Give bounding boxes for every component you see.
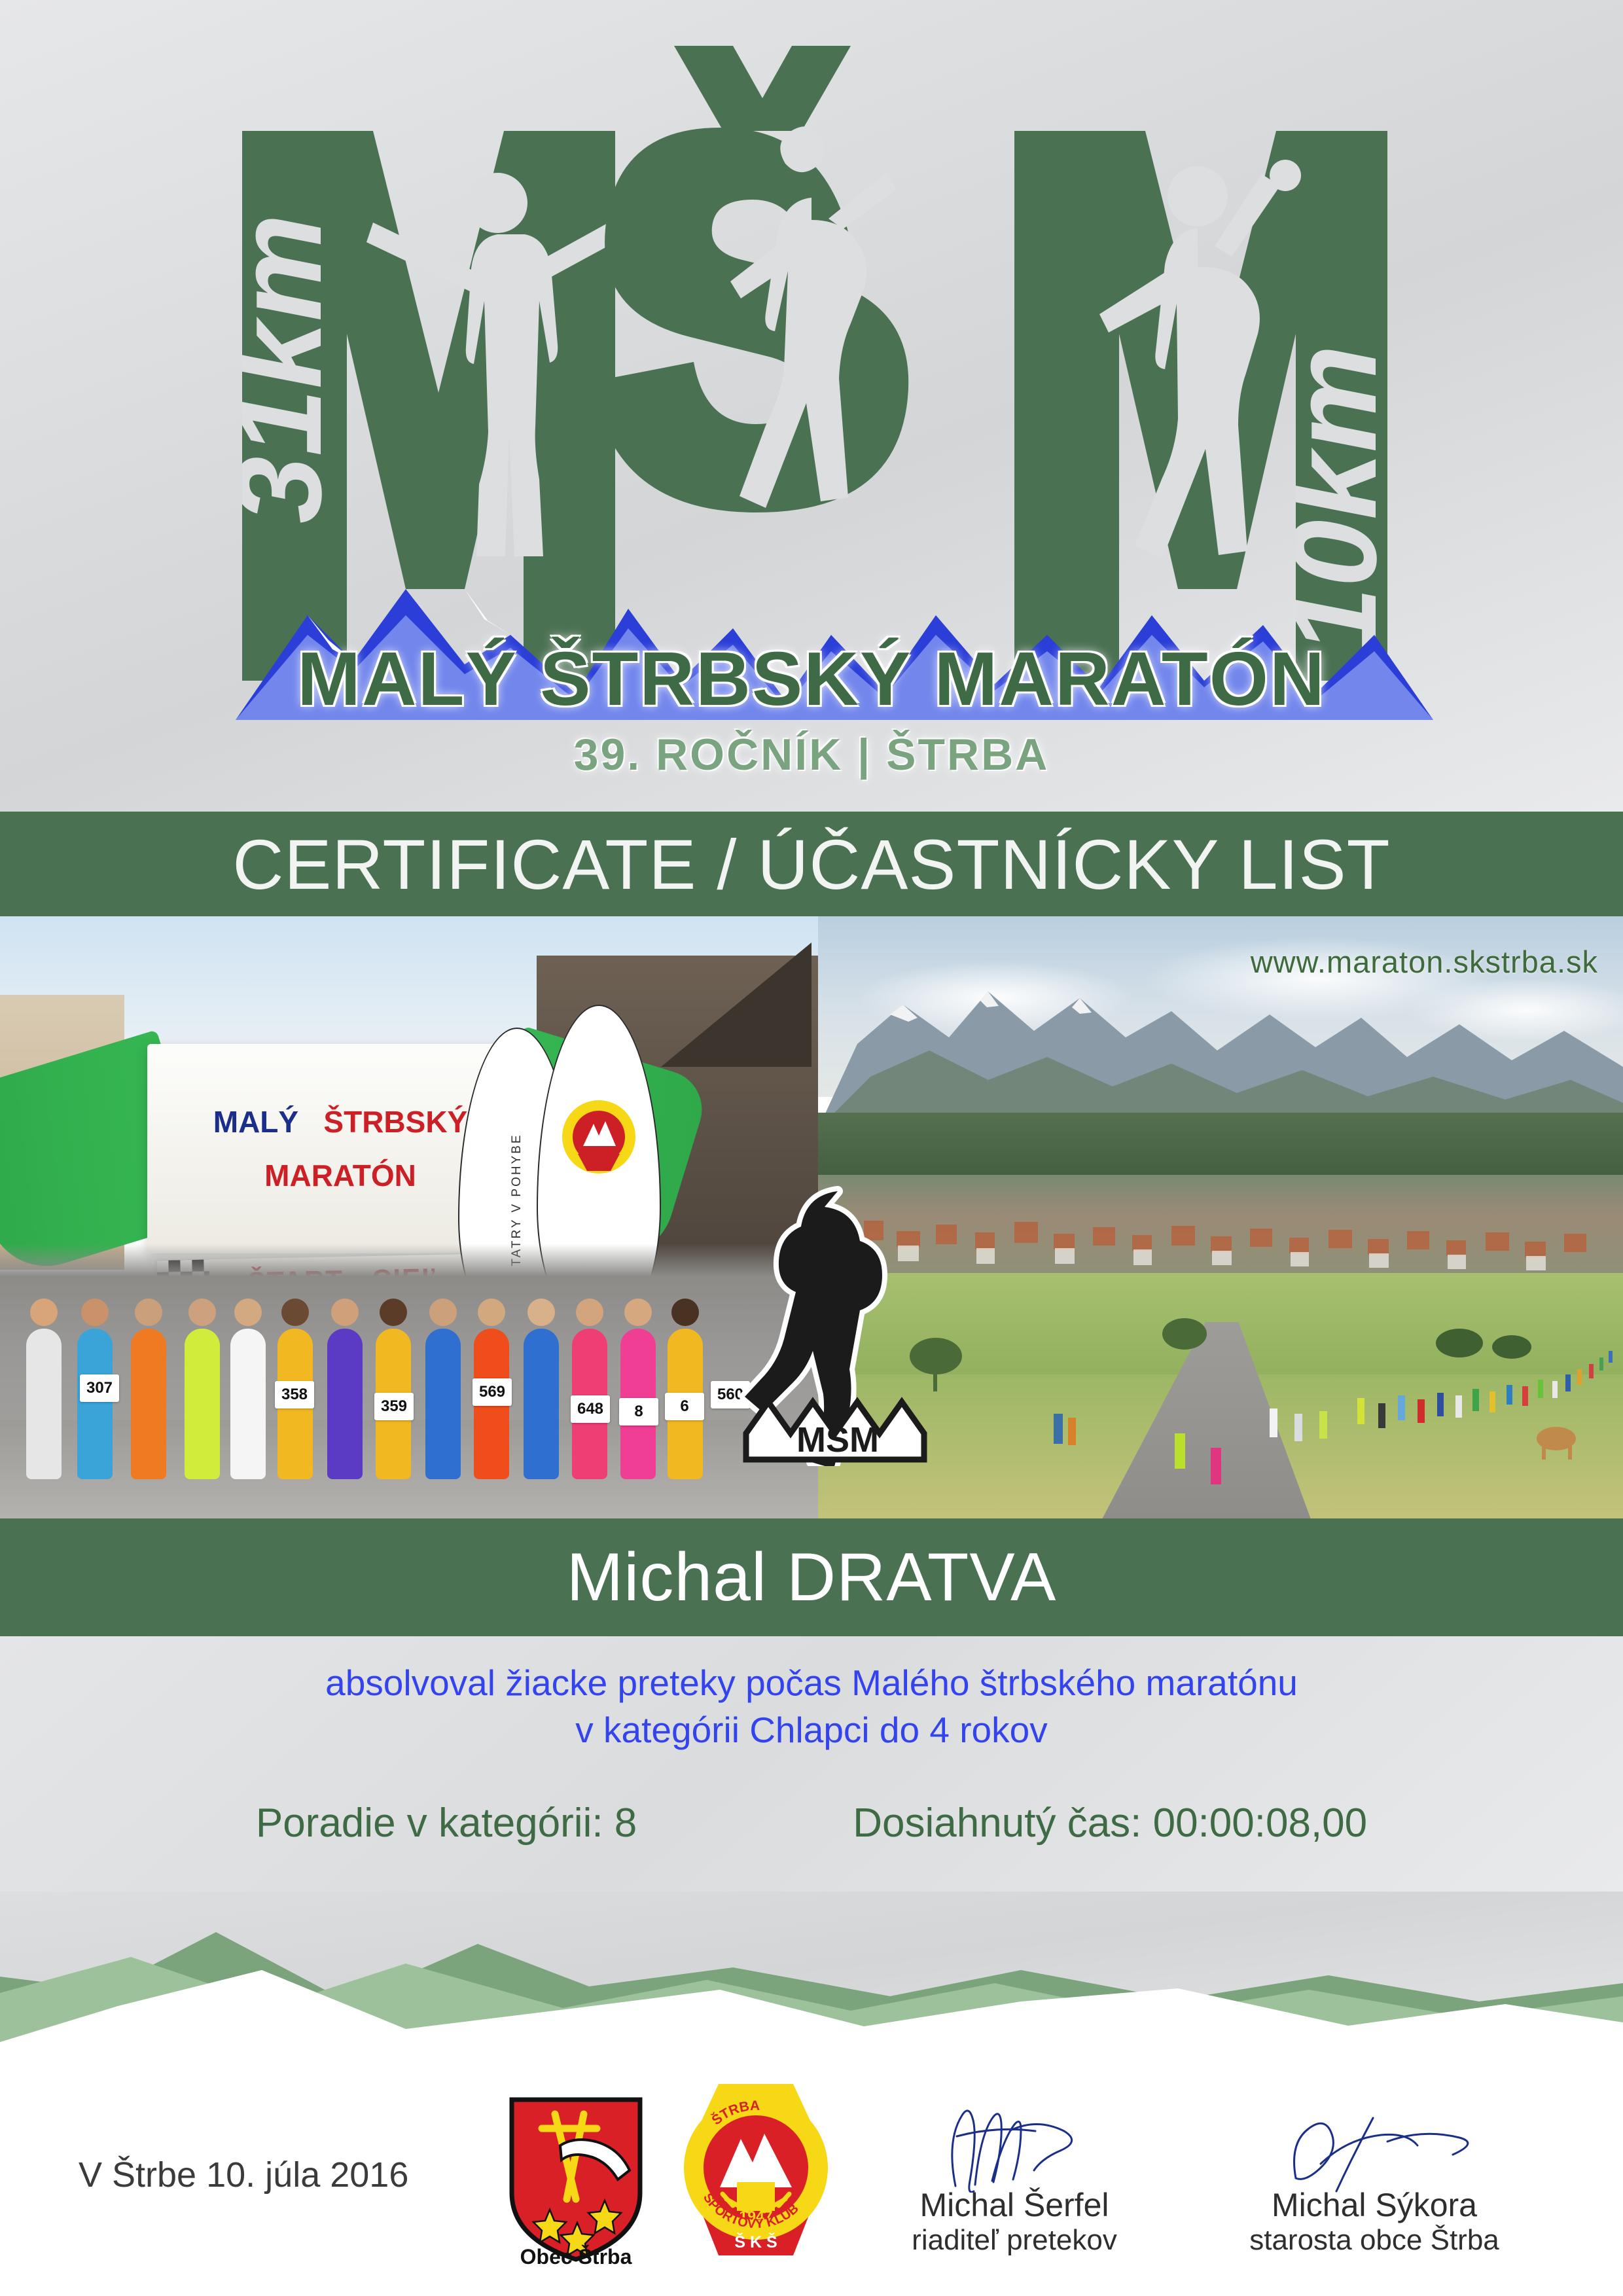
logo-title: MALÝ ŠTRBSKÝ MARATÓN — [157, 635, 1466, 723]
certificate-title: CERTIFICATE / ÚČASTNÍCKY LIST — [232, 823, 1390, 905]
runner — [425, 1329, 461, 1479]
runner — [26, 1329, 62, 1479]
category-rank: Poradie v kategórii: 8 — [256, 1800, 637, 1846]
certificate-footer: V Štrbe 10. júla 2016 Obec Štrba — [0, 2081, 1623, 2296]
logo-subtitle: 39. ROČNÍK | ŠTRBA — [157, 729, 1466, 780]
bib-number: 359 — [374, 1393, 414, 1420]
runner — [185, 1329, 220, 1479]
website-url: www.maraton.skstrba.sk — [1251, 944, 1598, 980]
handwritten-signature-1 — [877, 2108, 1152, 2193]
sks-strba-club-icon: 1947 ŠTRBA ŠPORTOVÝ KLUB Š K Š — [681, 2084, 831, 2259]
runner — [131, 1329, 166, 1479]
bib-number: 8 — [619, 1398, 658, 1426]
msm-runner-emblem: MŠM — [740, 1172, 936, 1466]
description-line-2: v kategórii Chlapci do 4 rokov — [0, 1707, 1623, 1754]
participant-name-band: Michal DRATVA — [0, 1518, 1623, 1636]
bib-number: 6 — [665, 1393, 704, 1420]
signature-2-name: Michal Sýkora — [1204, 2186, 1544, 2224]
signature-block-mayor: Michal Sýkora starosta obce Štrba — [1204, 2108, 1544, 2257]
signature-1-role: riaditeľ pretekov — [844, 2224, 1185, 2257]
msm-emblem-text: MŠM — [796, 1420, 879, 1460]
signature-2-role: starosta obce Štrba — [1204, 2224, 1544, 2257]
photo-race-start: MALÝ ŠTRBSKÝ MARATÓN ŠTART - CIEĽ TATRY … — [0, 916, 818, 1518]
arch-word-strbsky: ŠTRBSKÝ — [323, 1105, 467, 1139]
runner — [77, 1329, 113, 1479]
handwritten-signature-2 — [1237, 2108, 1512, 2193]
finish-time: Dosiahnutý čas: 00:00:08,00 — [853, 1800, 1367, 1846]
logo-distance-right: 10km — [1267, 345, 1402, 655]
mountain-decoration — [0, 1892, 1623, 2081]
bib-number: 569 — [473, 1378, 512, 1406]
certificate-body: absolvoval žiacke preteky počas Malého š… — [0, 1636, 1623, 1911]
logo-hero: 31km — [0, 0, 1623, 812]
msm-logo: 31km — [157, 26, 1466, 812]
logo-title-block: MALÝ ŠTRBSKÝ MARATÓN 39. ROČNÍK | ŠTRBA — [157, 635, 1466, 780]
arch-word-maly: MALÝ — [213, 1105, 298, 1139]
roadside-runners — [818, 1217, 1623, 1518]
roof-right — [661, 942, 811, 1067]
issue-date: V Štrbe 10. júla 2016 — [79, 2155, 408, 2195]
arch-banner-line2: MARATÓN — [264, 1158, 416, 1193]
participant-name: Michal DRATVA — [567, 1539, 1057, 1617]
bib-number: 358 — [275, 1381, 314, 1408]
results-row: Poradie v kategórii: 8 Dosiahnutý čas: 0… — [0, 1800, 1623, 1846]
race-crowd: 307 358 359 569 648 8 6 560 — [0, 1244, 818, 1518]
description-line-1: absolvoval žiacke preteky počas Malého š… — [0, 1660, 1623, 1707]
sks-badge-icon — [560, 1098, 638, 1176]
runner — [327, 1329, 363, 1479]
logo-distance-left: 31km — [212, 214, 347, 524]
certificate-page: 31km — [0, 0, 1623, 2296]
obec-strba-label: Obec Štrba — [504, 2245, 648, 2269]
signature-block-director: Michal Šerfel riaditeľ pretekov — [844, 2108, 1185, 2257]
arch-banner-line1: MALÝ ŠTRBSKÝ — [213, 1104, 467, 1139]
signature-1-name: Michal Šerfel — [844, 2186, 1185, 2224]
runner — [230, 1329, 266, 1479]
bib-number: 307 — [80, 1374, 119, 1402]
runner — [524, 1329, 559, 1479]
photo-course-landscape: www.maraton.skstrba.sk — [818, 916, 1623, 1518]
certificate-title-band: CERTIFICATE / ÚČASTNÍCKY LIST — [0, 812, 1623, 916]
obec-strba-crest-icon — [504, 2094, 648, 2265]
bib-number: 648 — [571, 1395, 610, 1423]
certificate-description: absolvoval žiacke preteky počas Malého š… — [0, 1660, 1623, 1753]
sks-bottom-text: Š K Š — [734, 2232, 777, 2251]
